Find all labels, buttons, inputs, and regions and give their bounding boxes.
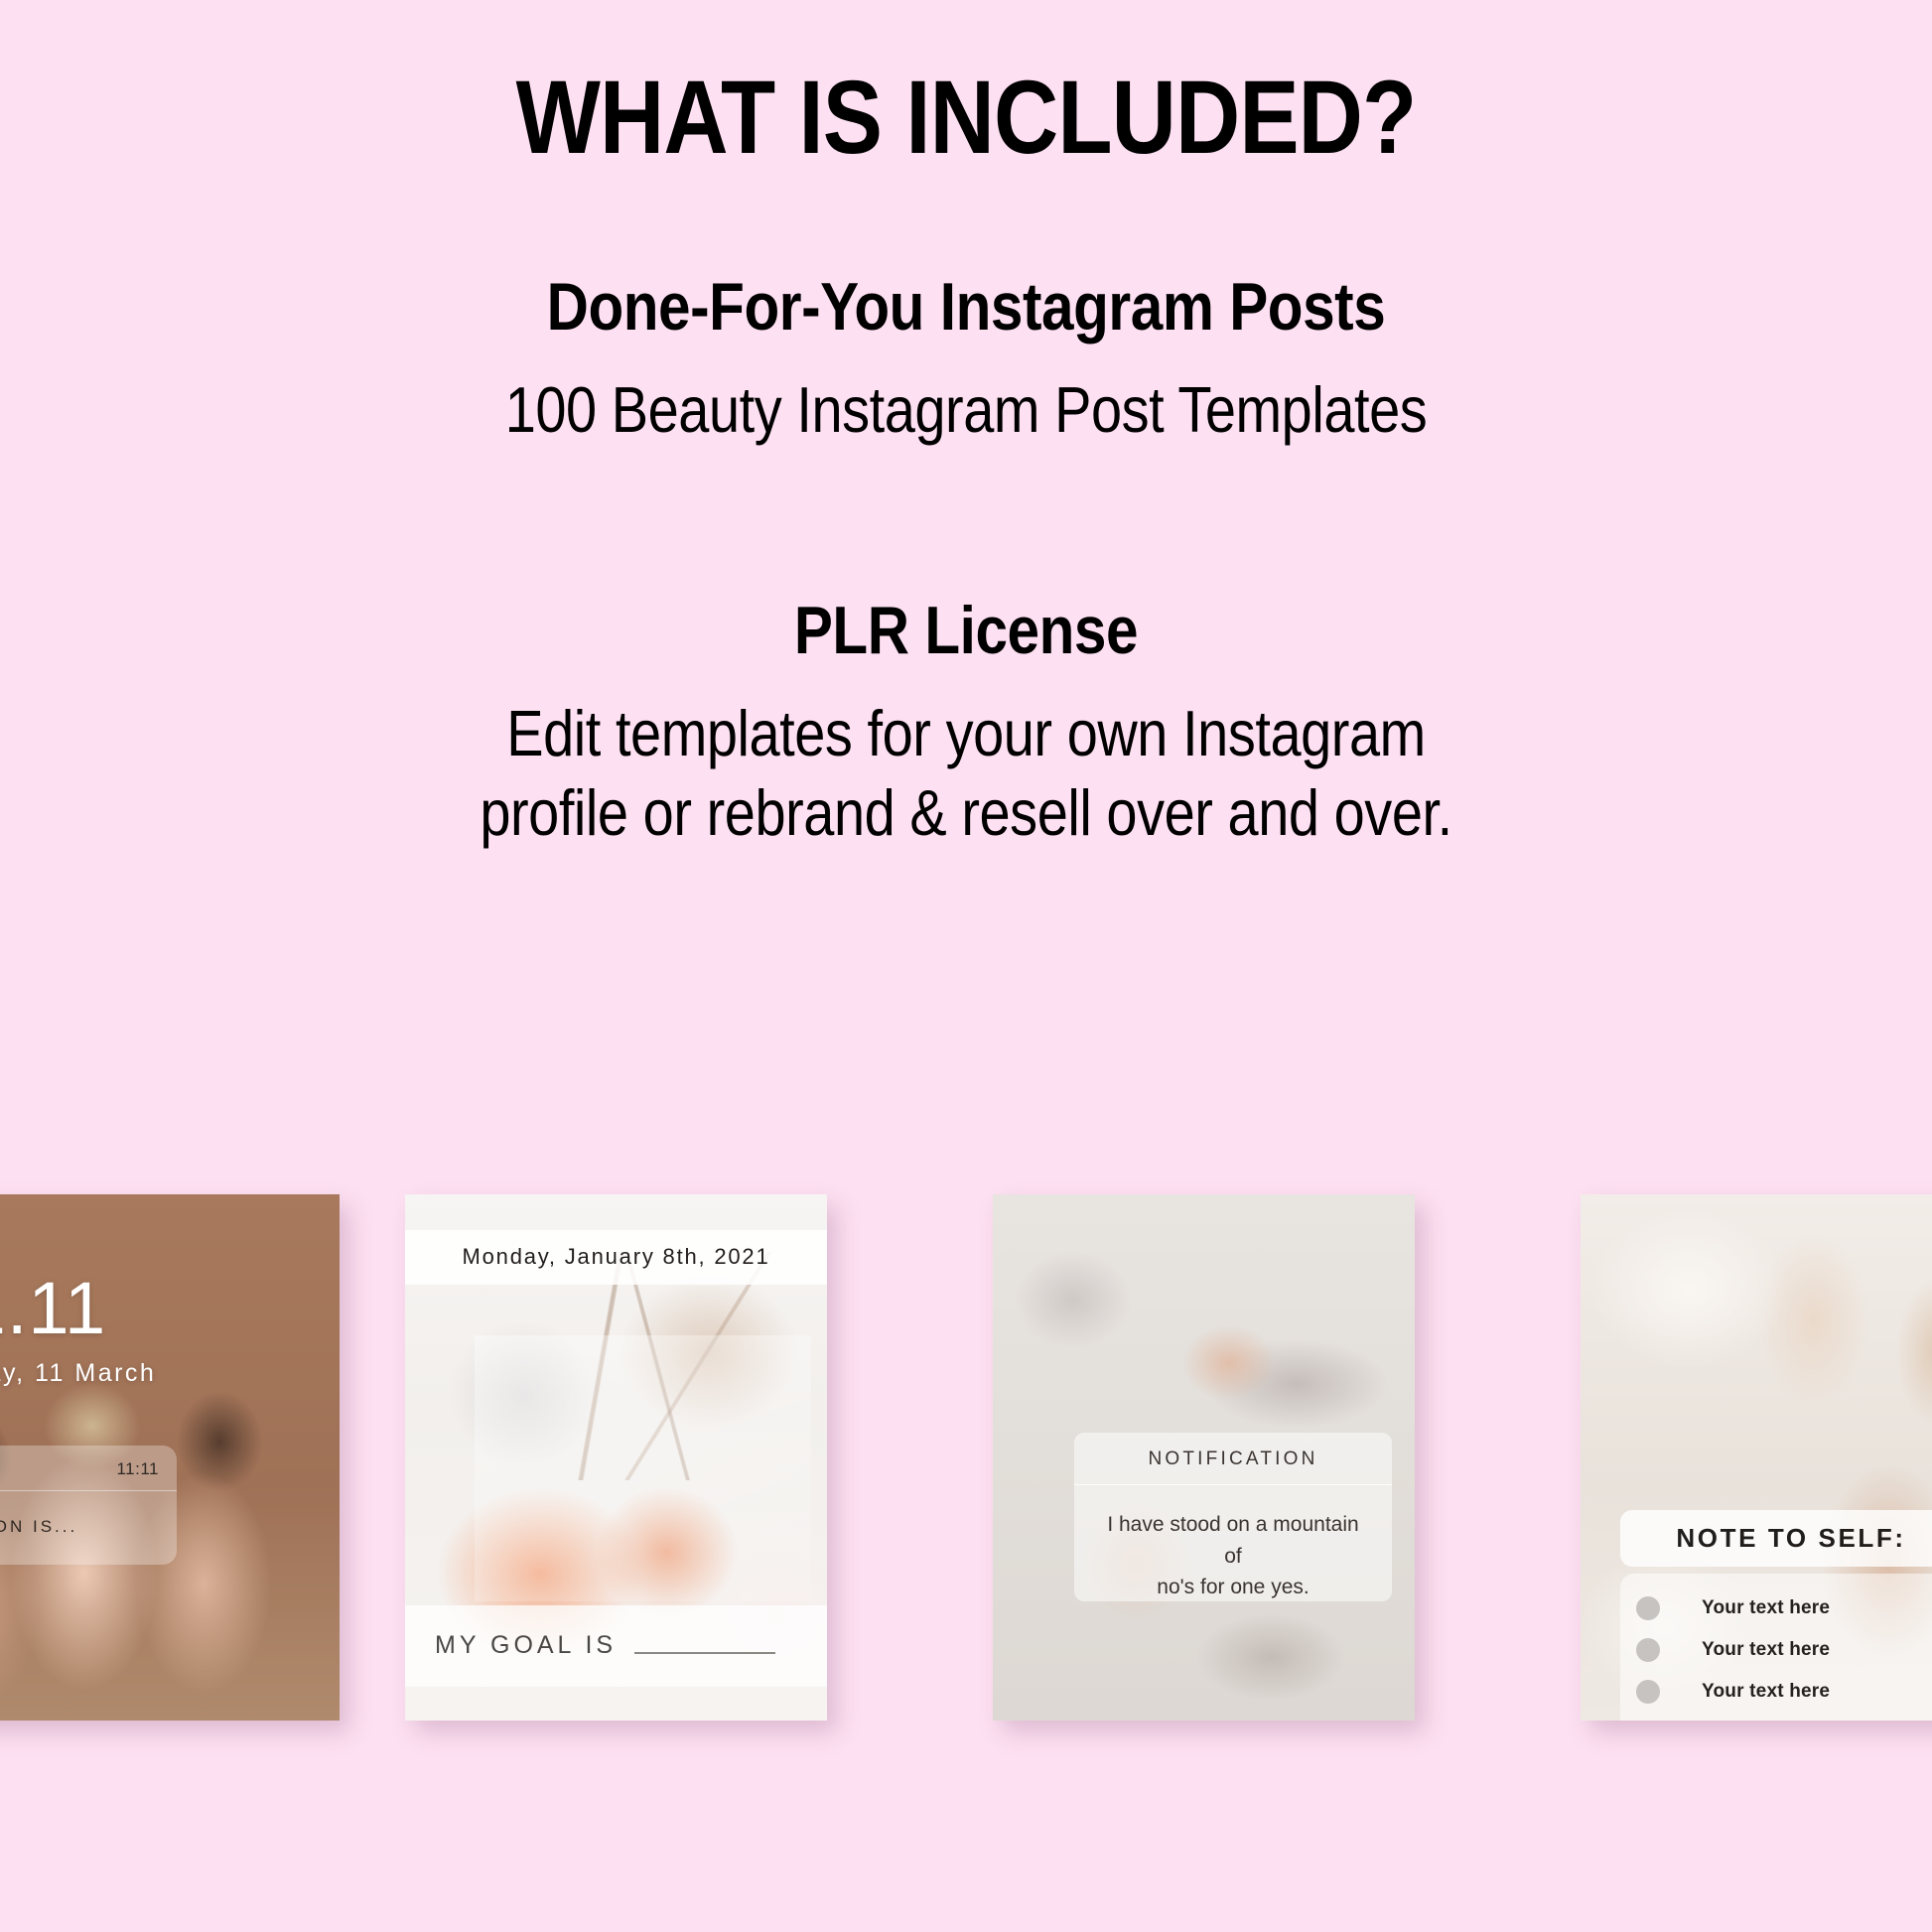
checkbox-icon[interactable] [1636,1638,1660,1662]
list-item[interactable]: Your text here [1620,1587,1932,1629]
goal-label: MY GOAL IS [435,1631,617,1660]
checkbox-icon[interactable] [1636,1596,1660,1620]
spacer [0,451,1932,590]
list-item[interactable]: Your text here [1620,1713,1932,1721]
list-item-label: Your text here [1702,1681,1830,1703]
note-to-self-checklist: Your text here Your text here Your text … [1620,1574,1932,1721]
goal-write-in-line [634,1652,775,1654]
list-item[interactable]: Your text here [1620,1671,1932,1713]
quote-body: I have stood on a mountain of no's for o… [1074,1485,1392,1603]
notification-body: MOTIVATION IS... [0,1491,177,1537]
notification-label: NOTIFICATION [1074,1433,1392,1485]
template-preview-gallery: 11.11 Monday, 11 March MESSAGE 11:11 MOT… [0,1194,1932,1750]
goal-card-date: Monday, January 8th, 2021 [405,1230,827,1285]
section-2-body-line-2: profile or rebrand & resell over and ove… [135,773,1797,854]
notification-header: MESSAGE 11:11 [0,1446,177,1491]
page-title: WHAT IS INCLUDED? [135,64,1797,173]
quote-notification: NOTIFICATION I have stood on a mountain … [1074,1433,1392,1601]
list-item-label: Your text here [1702,1597,1830,1619]
quote-line-1: I have stood on a mountain of [1100,1509,1366,1572]
section-2-body-line-1: Edit templates for your own Instagram [135,694,1797,774]
list-item[interactable]: Your text here [1620,1629,1932,1671]
included-copy-block: Done-For-You Instagram Posts 100 Beauty … [0,266,1932,854]
section-1-heading: Done-For-You Instagram Posts [135,266,1797,348]
template-card-note-to-self[interactable]: NOTE TO SELF: Your text here Your text h… [1581,1194,1932,1721]
note-to-self-header: NOTE TO SELF: [1620,1510,1932,1567]
lockscreen-notification: MESSAGE 11:11 MOTIVATION IS... [0,1446,177,1565]
lockscreen-date: Monday, 11 March [0,1359,156,1388]
template-card-goal[interactable]: Monday, January 8th, 2021 MY GOAL IS [405,1194,827,1721]
checkbox-icon[interactable] [1636,1680,1660,1704]
quote-line-2: no's for one yes. [1100,1572,1366,1603]
template-card-notification-quote[interactable]: NOTIFICATION I have stood on a mountain … [993,1194,1415,1721]
goal-card-footer: MY GOAL IS [405,1605,827,1687]
list-item-label: Your text here [1702,1639,1830,1661]
notification-time: 11:11 [116,1459,159,1479]
template-card-lockscreen[interactable]: 11.11 Monday, 11 March MESSAGE 11:11 MOT… [0,1194,340,1721]
section-1-body: 100 Beauty Instagram Post Templates [135,370,1797,451]
lockscreen-time: 11.11 [0,1272,106,1345]
section-2-heading: PLR License [135,590,1797,672]
spacer [0,672,1932,694]
spacer [0,348,1932,370]
card-inner-photo-frame [475,1335,811,1601]
